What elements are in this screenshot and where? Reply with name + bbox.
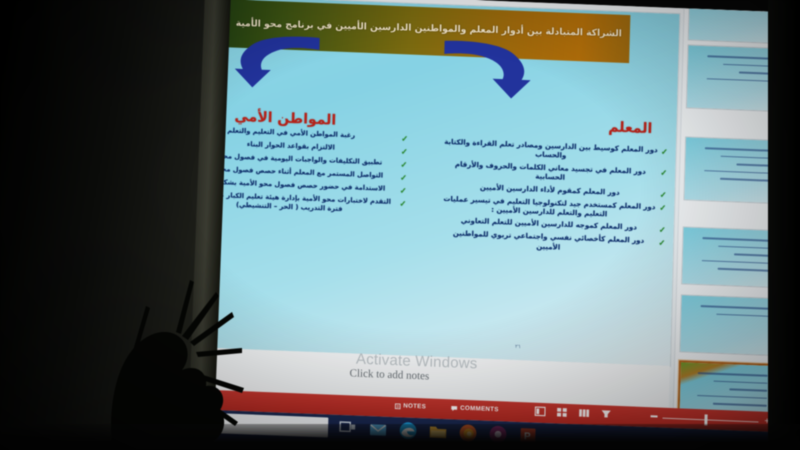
- thumbnail-preview: [680, 295, 775, 355]
- view-buttons-group: [535, 406, 612, 420]
- thumbnail-preview: [684, 137, 780, 203]
- reading-view-button[interactable]: [578, 407, 589, 418]
- bullet-column-right: ✓دور المعلم كوسيط بين الدارسين ومصادر تع…: [441, 138, 668, 260]
- check-icon: ✓: [400, 185, 407, 195]
- check-icon: ✓: [401, 133, 408, 143]
- slide-thumbnail[interactable]: [683, 136, 781, 204]
- check-icon: ✓: [661, 146, 668, 156]
- notes-icon: [395, 403, 401, 409]
- check-icon: ✓: [401, 146, 408, 156]
- monitor-bezel-right: [768, 0, 800, 450]
- check-icon: ✓: [399, 198, 406, 208]
- comments-label: COMMENTS: [460, 405, 499, 414]
- check-icon: ✓: [400, 159, 407, 169]
- curved-arrow-right-icon: [435, 35, 535, 103]
- check-icon: ✓: [658, 238, 665, 248]
- slide-canvas[interactable]: الشراكة المتبادلة بين أدوار المعلم والمو…: [170, 0, 679, 366]
- notes-label: NOTES: [403, 402, 426, 410]
- zoom-track[interactable]: [662, 417, 758, 422]
- slide-thumbnail[interactable]: [679, 294, 777, 356]
- comments-toggle-button[interactable]: COMMENTS: [451, 404, 499, 413]
- comments-icon: [451, 405, 458, 411]
- monitor-bezel-bottom: [0, 424, 800, 450]
- photo-of-screen: + الشراكة المتبادلة بين أدوار المعلم وال…: [0, 0, 800, 450]
- check-icon: ✓: [660, 168, 667, 178]
- slide-sorter-button[interactable]: [556, 407, 567, 418]
- curved-arrow-left-icon: [232, 29, 326, 95]
- monitor-bezel-left: [0, 0, 215, 450]
- check-icon: ✓: [660, 190, 667, 200]
- heading-illiterate-citizen: المواطن الأمي: [234, 109, 336, 129]
- thumbnail-preview: [682, 227, 777, 287]
- slide-thumbnail[interactable]: [681, 226, 779, 288]
- zoom-out-button[interactable]: [651, 415, 658, 417]
- check-icon: ✓: [659, 225, 666, 235]
- check-icon: ✓: [659, 203, 666, 213]
- check-icon: ✓: [400, 172, 407, 182]
- slide-show-button[interactable]: [600, 408, 611, 419]
- notes-toggle-button[interactable]: NOTES: [395, 402, 426, 410]
- slide-page-number: ٢٦: [515, 344, 521, 350]
- heading-teacher: المعلم: [608, 119, 652, 137]
- normal-view-button[interactable]: [535, 406, 546, 417]
